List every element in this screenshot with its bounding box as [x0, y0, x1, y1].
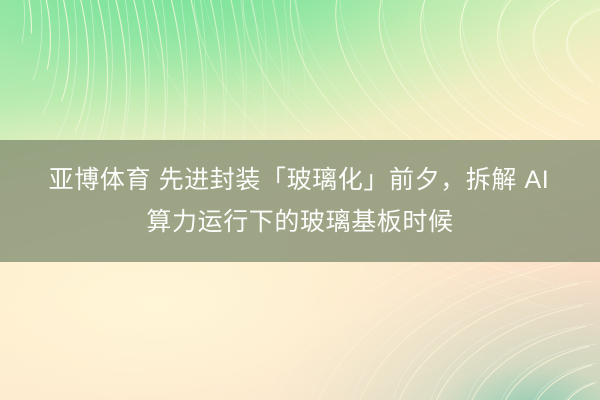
caption-line-2: 算力运行下的玻璃基板时候 [146, 201, 453, 243]
caption-line-1: 亚博体育 先进封装「玻璃化」前夕，拆解 AI [49, 159, 550, 201]
caption-band: 亚博体育 先进封装「玻璃化」前夕，拆解 AI 算力运行下的玻璃基板时候 [0, 140, 600, 262]
article-banner: 亚博体育 先进封装「玻璃化」前夕，拆解 AI 算力运行下的玻璃基板时候 [0, 0, 600, 400]
